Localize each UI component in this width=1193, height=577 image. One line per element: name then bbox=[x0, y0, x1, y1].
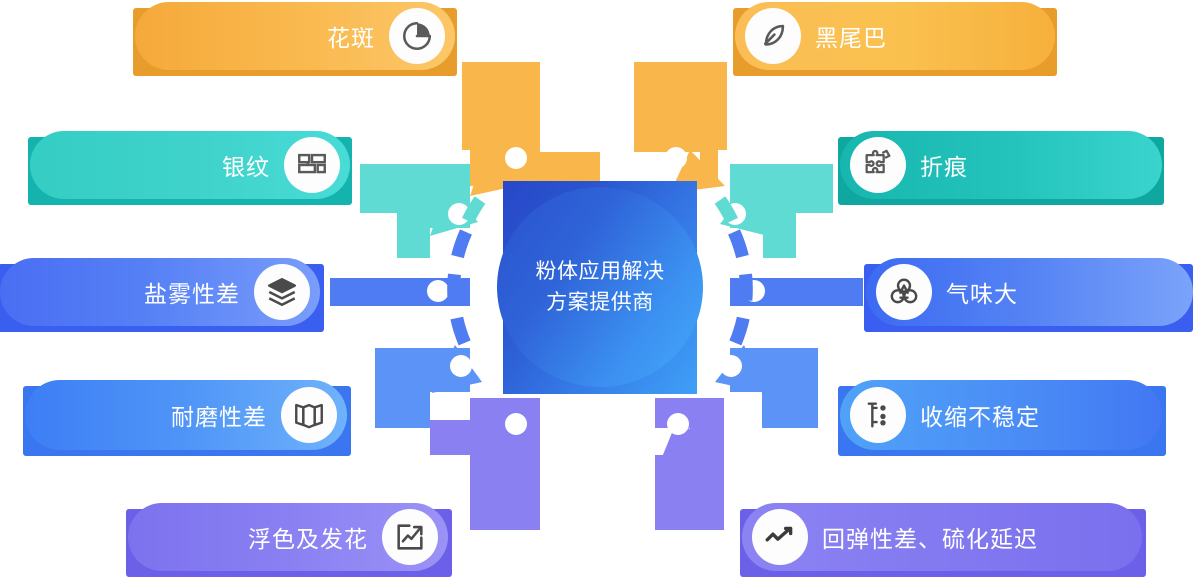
node-yan-wu-xing-cha[interactable]: 盐雾性差 bbox=[0, 258, 320, 326]
pill-label: 气味大 bbox=[946, 275, 1018, 309]
node-hei-wei-ba[interactable]: 黑尾巴 bbox=[735, 2, 1055, 70]
infographic-canvas: 粉体应用解决 方案提供商 花斑 黑尾巴 bbox=[0, 0, 1193, 577]
node-hui-tan-xing-cha[interactable]: 回弹性差、硫化延迟 bbox=[742, 503, 1142, 571]
node-shou-suo-bu-wen-ding[interactable]: 收缩不稳定 bbox=[840, 380, 1162, 450]
leaf-icon bbox=[745, 8, 801, 64]
pill-body[interactable]: 耐磨性差 bbox=[25, 380, 347, 450]
pill-label: 花斑 bbox=[327, 19, 375, 53]
pill-label: 耐磨性差 bbox=[171, 398, 267, 432]
puzzle-piece-icon bbox=[850, 137, 906, 193]
pill-body[interactable]: 黑尾巴 bbox=[735, 2, 1055, 70]
pill-label: 浮色及发花 bbox=[248, 520, 368, 554]
node-qi-wei-da[interactable]: 气味大 bbox=[866, 258, 1193, 326]
pill-body[interactable]: 盐雾性差 bbox=[0, 258, 320, 326]
pill-label: 黑尾巴 bbox=[815, 19, 887, 53]
pill-body[interactable]: 折痕 bbox=[840, 131, 1162, 199]
connector-hui-tan bbox=[655, 398, 724, 530]
center-title: 粉体应用解决 方案提供商 bbox=[503, 181, 697, 394]
open-book-icon bbox=[281, 387, 337, 443]
pill-body[interactable]: 银纹 bbox=[30, 131, 350, 199]
pill-body[interactable]: 收缩不稳定 bbox=[840, 380, 1162, 450]
pill-label: 盐雾性差 bbox=[144, 275, 240, 309]
brick-wall-icon bbox=[284, 137, 340, 193]
line-chart-icon bbox=[752, 509, 808, 565]
layers-icon bbox=[254, 264, 310, 320]
pill-body[interactable]: 气味大 bbox=[866, 258, 1193, 326]
node-hua-ban[interactable]: 花斑 bbox=[135, 2, 455, 70]
pie-chart-icon bbox=[389, 8, 445, 64]
pill-label: 回弹性差、硫化延迟 bbox=[822, 520, 1038, 554]
connector-nai-mo bbox=[375, 345, 482, 428]
connector-hei-wei-ba bbox=[634, 62, 727, 193]
pill-label: 收缩不稳定 bbox=[920, 398, 1040, 432]
pill-body[interactable]: 浮色及发花 bbox=[128, 503, 448, 571]
chart-growth-icon bbox=[382, 509, 438, 565]
pill-body[interactable]: 回弹性差、硫化延迟 bbox=[742, 503, 1142, 571]
pill-label: 折痕 bbox=[920, 148, 968, 182]
sitemap-icon bbox=[850, 387, 906, 443]
pill-body[interactable]: 花斑 bbox=[135, 2, 455, 70]
connector-shou-suo bbox=[715, 345, 818, 428]
node-fu-se-ji-fa-hua[interactable]: 浮色及发花 bbox=[128, 503, 448, 571]
recycle-icon bbox=[876, 264, 932, 320]
node-nai-mo-xing-cha[interactable]: 耐磨性差 bbox=[25, 380, 347, 450]
node-yin-wen[interactable]: 银纹 bbox=[30, 131, 350, 199]
node-zhe-hen[interactable]: 折痕 bbox=[840, 131, 1162, 199]
pill-label: 银纹 bbox=[222, 148, 270, 182]
